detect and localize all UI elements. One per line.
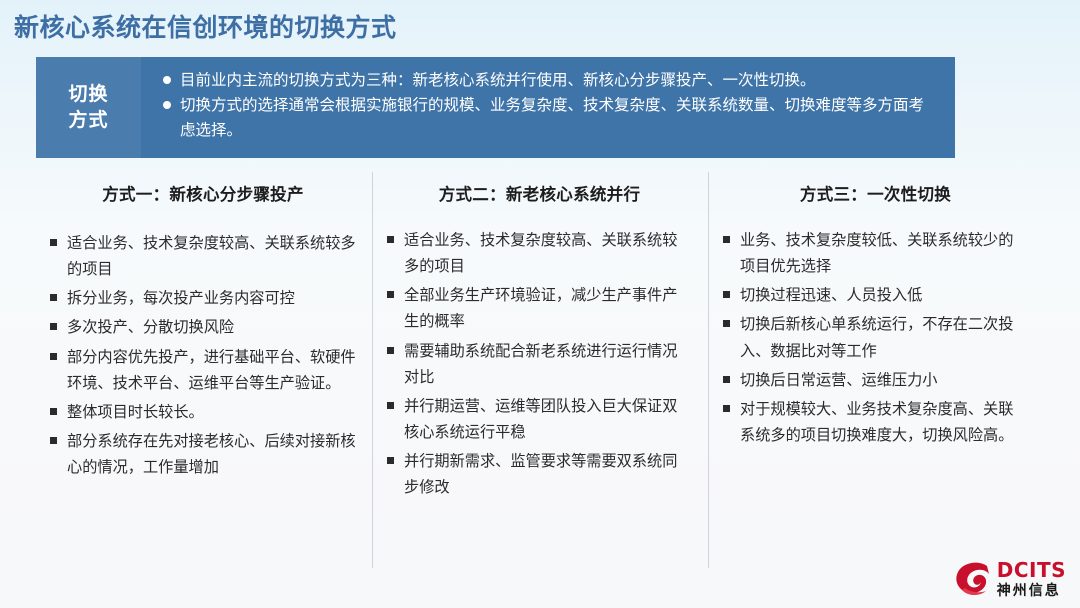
- square-bullet-icon: [50, 294, 57, 301]
- logo-text: DCITS 神州信息: [997, 560, 1066, 598]
- list-item-text: 拆分业务，每次投产业务内容可控: [67, 285, 356, 311]
- list-item-text: 并行期运营、运维等团队投入巨大保证双核心系统运行平稳: [404, 393, 692, 445]
- banner-bullet-text: 目前业内主流的切换方式为三种：新老核心系统并行使用、新核心分步骤投产、一次性切换…: [180, 68, 939, 92]
- bullet-dot-icon: [163, 76, 171, 84]
- square-bullet-icon: [50, 239, 57, 246]
- square-bullet-icon: [723, 320, 730, 327]
- list-item: 拆分业务，每次投产业务内容可控: [50, 285, 356, 311]
- square-bullet-icon: [387, 291, 394, 298]
- square-bullet-icon: [387, 236, 394, 243]
- list-item-text: 切换后新核心单系统运行，不存在二次投入、数据比对等工作: [740, 311, 1028, 363]
- list-item: 部分系统存在先对接老核心、后续对接新核心的情况，工作量增加: [50, 428, 356, 480]
- list-item: 部分内容优先投产，进行基础平台、软硬件环境、技术平台、运维平台等生产验证。: [50, 344, 356, 396]
- list-item: 并行期运营、运维等团队投入巨大保证双核心系统运行平稳: [387, 393, 692, 445]
- column-bullet-list: 适合业务、技术复杂度较高、关联系统较多的项目 拆分业务，每次投产业务内容可控 多…: [50, 230, 356, 480]
- column-heading: 方式三：一次性切换: [723, 181, 1028, 205]
- comparison-columns: 方式一：新核心分步骤投产 适合业务、技术复杂度较高、关联系统较多的项目 拆分业务…: [36, 172, 1044, 568]
- square-bullet-icon: [50, 323, 57, 330]
- column-heading: 方式二：新老核心系统并行: [387, 181, 692, 205]
- list-item-text: 对于规模较大、业务技术复杂度高、关联系统多的项目切换难度大，切换风险高。: [740, 396, 1028, 448]
- column-method-one: 方式一：新核心分步骤投产 适合业务、技术复杂度较高、关联系统较多的项目 拆分业务…: [36, 172, 372, 568]
- list-item: 全部业务生产环境验证，减少生产事件产生的概率: [387, 282, 692, 334]
- square-bullet-icon: [50, 408, 57, 415]
- banner-body: 目前业内主流的切换方式为三种：新老核心系统并行使用、新核心分步骤投产、一次性切换…: [141, 57, 955, 158]
- list-item-text: 适合业务、技术复杂度较高、关联系统较多的项目: [67, 230, 356, 282]
- list-item: 切换过程迅速、人员投入低: [723, 282, 1028, 308]
- column-method-two: 方式二：新老核心系统并行 适合业务、技术复杂度较高、关联系统较多的项目 全部业务…: [372, 172, 708, 568]
- list-item-text: 需要辅助系统配合新老系统进行运行情况对比: [404, 338, 692, 390]
- list-item-text: 部分内容优先投产，进行基础平台、软硬件环境、技术平台、运维平台等生产验证。: [67, 344, 356, 396]
- list-item-text: 切换过程迅速、人员投入低: [740, 282, 1028, 308]
- list-item: 切换后新核心单系统运行，不存在二次投入、数据比对等工作: [723, 311, 1028, 363]
- list-item: 适合业务、技术复杂度较高、关联系统较多的项目: [387, 227, 692, 279]
- summary-banner: 切换 方式 目前业内主流的切换方式为三种：新老核心系统并行使用、新核心分步骤投产…: [36, 57, 955, 158]
- list-item-text: 全部业务生产环境验证，减少生产事件产生的概率: [404, 282, 692, 334]
- list-item: 适合业务、技术复杂度较高、关联系统较多的项目: [50, 230, 356, 282]
- list-item-text: 切换后日常运营、运维压力小: [740, 367, 1028, 393]
- banner-bullet: 目前业内主流的切换方式为三种：新老核心系统并行使用、新核心分步骤投产、一次性切换…: [163, 68, 939, 92]
- list-item-text: 多次投产、分散切换风险: [67, 314, 356, 340]
- list-item: 对于规模较大、业务技术复杂度高、关联系统多的项目切换难度大，切换风险高。: [723, 396, 1028, 448]
- square-bullet-icon: [723, 291, 730, 298]
- list-item-text: 并行期新需求、监管要求等需要双系统同步修改: [404, 448, 692, 500]
- list-item-text: 业务、技术复杂度较低、关联系统较少的项目优先选择: [740, 227, 1028, 279]
- square-bullet-icon: [50, 353, 57, 360]
- square-bullet-icon: [387, 347, 394, 354]
- square-bullet-icon: [723, 376, 730, 383]
- banner-label: 切换 方式: [36, 57, 141, 158]
- banner-bullet: 切换方式的选择通常会根据实施银行的规模、业务复杂度、技术复杂度、关联系统数量、切…: [163, 93, 939, 142]
- logo-en-text: DCITS: [997, 560, 1066, 580]
- column-bullet-list: 业务、技术复杂度较低、关联系统较少的项目优先选择 切换过程迅速、人员投入低 切换…: [723, 227, 1028, 448]
- square-bullet-icon: [387, 457, 394, 464]
- list-item: 需要辅助系统配合新老系统进行运行情况对比: [387, 338, 692, 390]
- bullet-dot-icon: [163, 101, 171, 109]
- column-method-three: 方式三：一次性切换 业务、技术复杂度较低、关联系统较少的项目优先选择 切换过程迅…: [708, 172, 1044, 568]
- column-heading: 方式一：新核心分步骤投产: [50, 181, 356, 205]
- page-title: 新核心系统在信创环境的切换方式: [14, 8, 397, 44]
- banner-label-line-2: 方式: [68, 108, 108, 133]
- banner-label-line-1: 切换: [68, 82, 108, 107]
- list-item: 业务、技术复杂度较低、关联系统较少的项目优先选择: [723, 227, 1028, 279]
- list-item-text: 部分系统存在先对接老核心、后续对接新核心的情况，工作量增加: [67, 428, 356, 480]
- logo-cn-text: 神州信息: [997, 584, 1066, 598]
- list-item-text: 适合业务、技术复杂度较高、关联系统较多的项目: [404, 227, 692, 279]
- list-item: 切换后日常运营、运维压力小: [723, 367, 1028, 393]
- list-item-text: 整体项目时长较长。: [67, 399, 356, 425]
- square-bullet-icon: [723, 236, 730, 243]
- company-logo: DCITS 神州信息: [953, 558, 1066, 600]
- list-item: 多次投产、分散切换风险: [50, 314, 356, 340]
- dcits-swoosh-icon: [953, 560, 993, 598]
- list-item: 整体项目时长较长。: [50, 399, 356, 425]
- list-item: 并行期新需求、监管要求等需要双系统同步修改: [387, 448, 692, 500]
- banner-bullet-text: 切换方式的选择通常会根据实施银行的规模、业务复杂度、技术复杂度、关联系统数量、切…: [180, 93, 939, 142]
- square-bullet-icon: [723, 405, 730, 412]
- square-bullet-icon: [387, 402, 394, 409]
- square-bullet-icon: [50, 437, 57, 444]
- column-bullet-list: 适合业务、技术复杂度较高、关联系统较多的项目 全部业务生产环境验证，减少生产事件…: [387, 227, 692, 500]
